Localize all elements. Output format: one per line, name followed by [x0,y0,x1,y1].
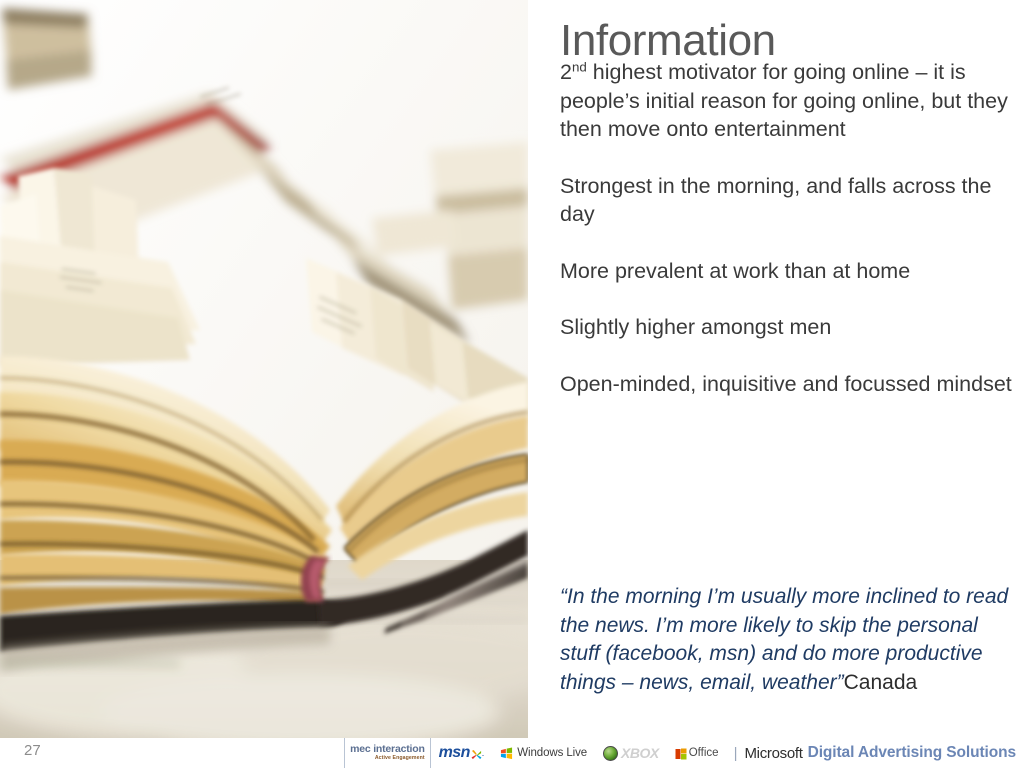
mec-logo-tagline: Active Engagement [375,755,425,762]
slide-footer: 27 mec interaction Active Engagement msn… [0,738,1024,768]
testimonial-quote: “In the morning I’m usually more incline… [560,583,1012,697]
body-paragraph-1: 2nd highest motivator for going online –… [560,58,1012,144]
windows-flag-icon [500,747,513,760]
msn-logo-word: msn [439,744,470,762]
body-paragraph-3: More prevalent at work than at home [560,257,1012,286]
windows-live-label: Windows Live [517,747,587,759]
content-column: Information 2nd highest motivator for go… [558,0,1014,738]
microsoft-wordmark: Microsoft [744,745,802,762]
paragraph-1-text: highest motivator for going online – it … [560,60,1008,141]
quote-text: “In the morning I’m usually more incline… [560,585,1008,694]
book-photo-artwork [0,0,528,738]
mec-interaction-logo: mec interaction Active Engagement [344,738,431,768]
body-text: 2nd highest motivator for going online –… [560,58,1012,398]
office-icon [675,747,687,759]
mec-logo-name: mec interaction [350,744,425,755]
office-logo: Office [667,738,727,768]
slide-canvas: Information 2nd highest motivator for go… [0,0,1024,768]
msn-logo: msn . [431,738,493,768]
body-paragraph-2: Strongest in the morning, and falls acro… [560,172,1012,229]
msn-butterfly-icon [471,748,482,759]
body-paragraph-4: Slightly higher amongst men [560,313,1012,342]
office-label: Office [689,747,719,759]
xbox-sphere-icon [603,746,618,761]
paragraph-1-lead: 2 [560,60,572,84]
msn-logo-dot: . [482,748,485,758]
page-number: 27 [24,742,41,759]
digital-advertising-solutions-label: Digital Advertising Solutions [803,744,1024,762]
quote-attribution: Canada [844,671,918,694]
xbox-logo: XBOX [595,738,667,768]
logo-divider: | [727,745,745,762]
partner-logo-bar: mec interaction Active Engagement msn . [344,738,1024,768]
paragraph-1-superscript: nd [572,60,587,75]
book-photo [0,0,528,738]
xbox-label: XBOX [621,745,659,761]
body-paragraph-5: Open-minded, inquisitive and focussed mi… [560,370,1012,399]
windows-live-logo: Windows Live [492,738,595,768]
